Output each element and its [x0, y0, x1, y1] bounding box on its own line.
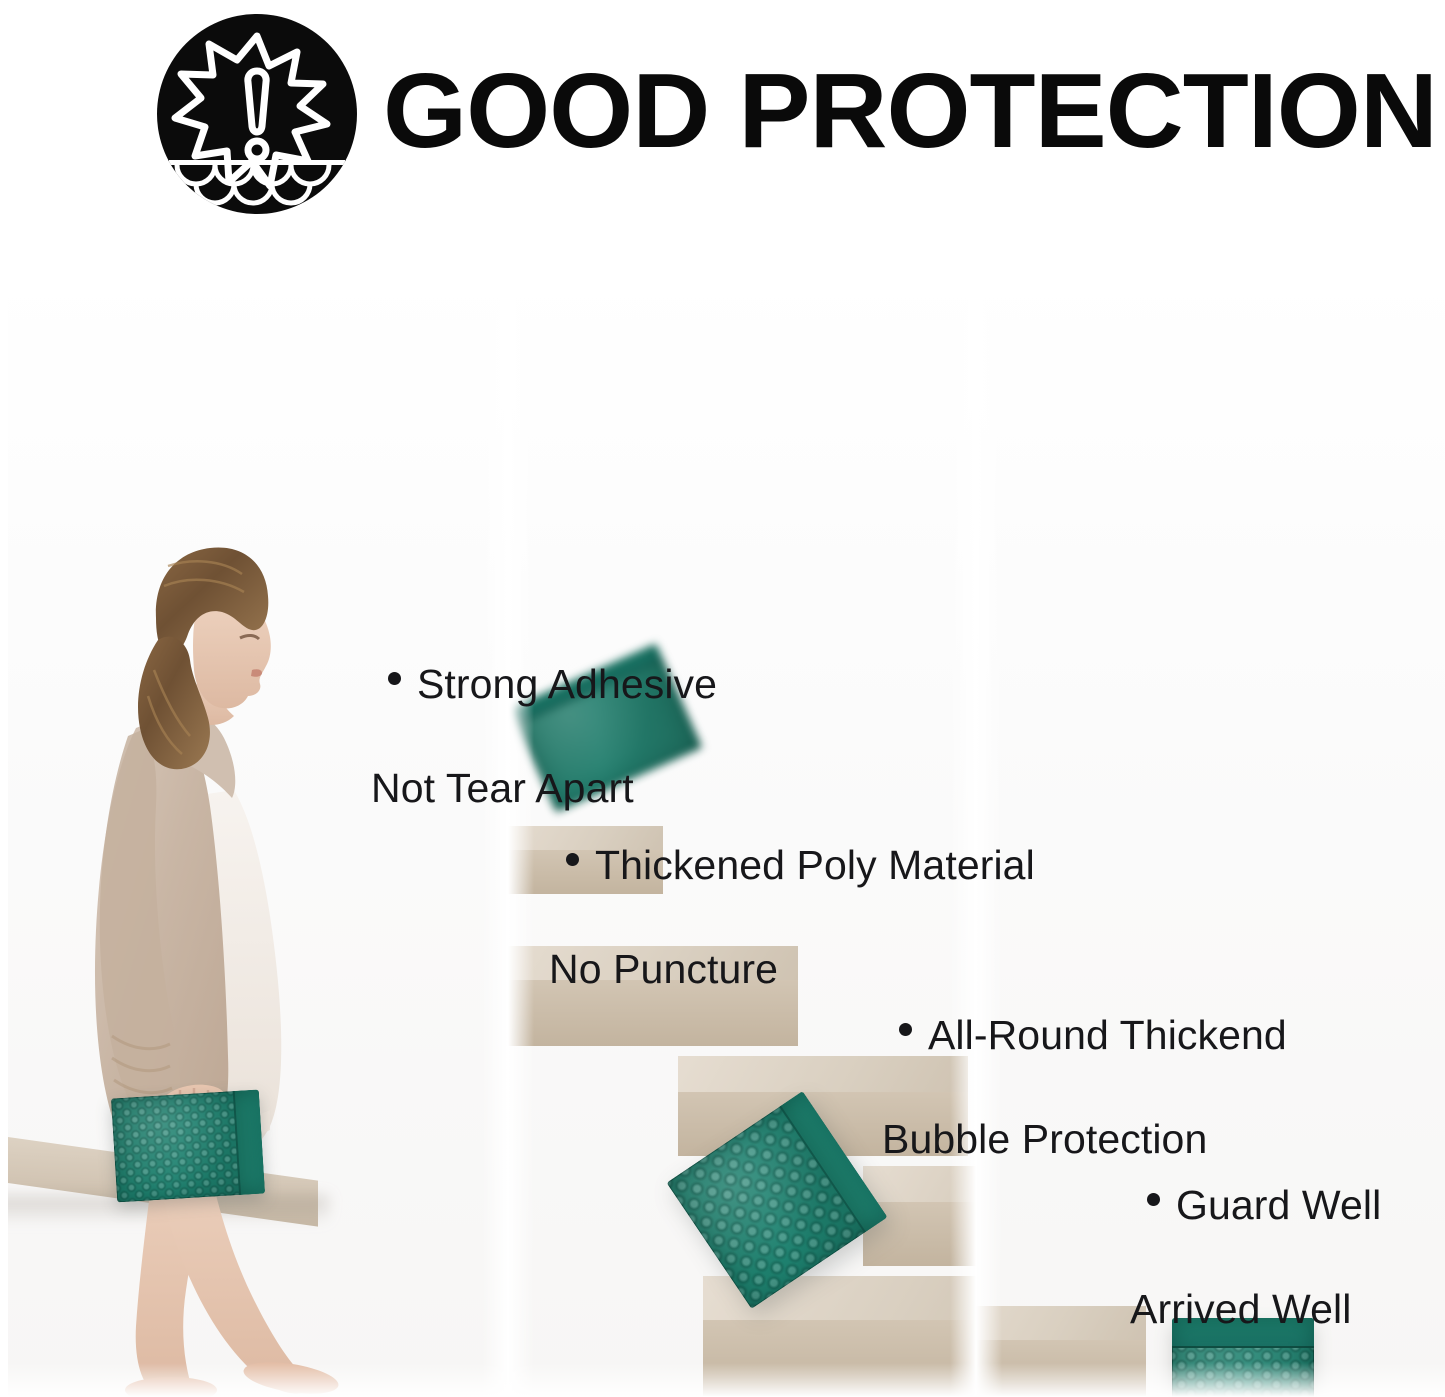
- bullet-dot-icon: [388, 672, 401, 685]
- header-banner: GOOD PROTECTION: [0, 0, 1445, 266]
- feature-bullet-2-line1: Thickened Poly Material: [595, 842, 1035, 888]
- bullet-dot-icon: [566, 853, 579, 866]
- fragile-burst-bubble-icon: [157, 14, 357, 214]
- page-title: GOOD PROTECTION: [383, 52, 1437, 170]
- feature-bullet-4-line2: Arrived Well: [1101, 1283, 1381, 1335]
- feature-bullet-4-line1: Guard Well: [1176, 1182, 1381, 1228]
- bullet-dot-icon: [1147, 1193, 1160, 1206]
- feature-bullet-3-line1: All-Round Thickend: [928, 1012, 1287, 1058]
- feature-bullet-4: Guard Well Arrived Well: [1101, 1127, 1381, 1397]
- product-feature-photo-band: Strong Adhesive Not Tear Apart Thickened…: [0, 266, 1445, 1397]
- feature-bullet-1-line1: Strong Adhesive: [417, 661, 717, 707]
- teal-bubble-mailer: [111, 1090, 265, 1203]
- bullet-dot-icon: [899, 1023, 912, 1036]
